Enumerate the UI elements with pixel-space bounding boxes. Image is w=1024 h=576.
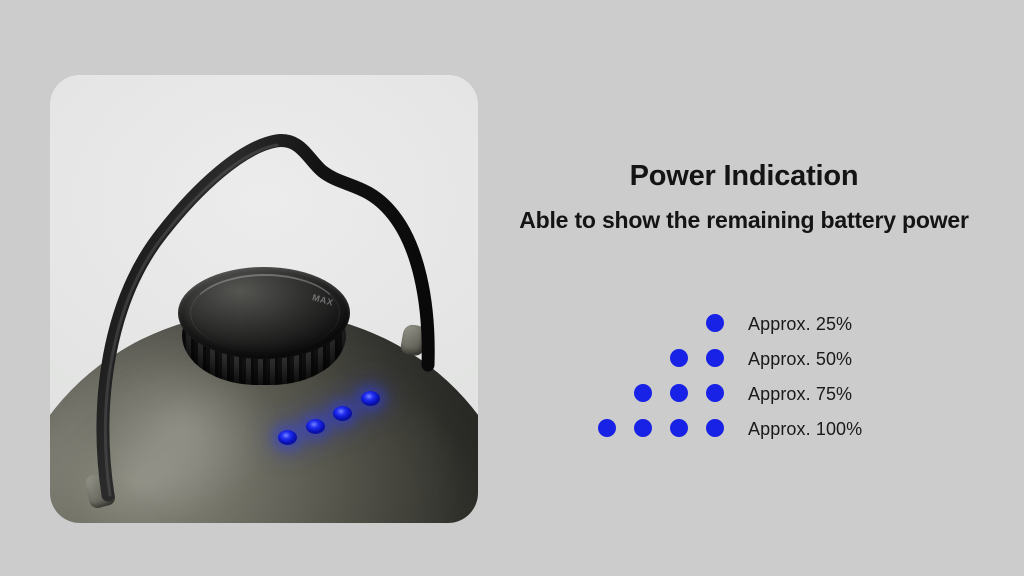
legend-row: Approx. 25% [598, 308, 918, 343]
legend-row: Approx. 100% [598, 413, 918, 448]
product-led-4 [361, 391, 380, 406]
legend-label: Approx. 25% [748, 308, 852, 343]
legend-label: Approx. 75% [748, 378, 852, 413]
legend-dot [634, 384, 652, 402]
knob-top-face: MAX [178, 267, 350, 359]
legend-dot [670, 384, 688, 402]
slide-stage: MAX Power Indication Able to show the re… [0, 0, 1024, 576]
legend-row: Approx. 75% [598, 378, 918, 413]
knob-inner-ring [190, 274, 340, 352]
legend-dot [706, 314, 724, 332]
page-subtitle: Able to show the remaining battery power [498, 207, 990, 235]
battery-level-legend: Approx. 25%Approx. 50%Approx. 75%Approx.… [598, 308, 918, 448]
product-led-3 [333, 406, 352, 421]
legend-label: Approx. 100% [748, 413, 862, 448]
product-led-1 [278, 430, 297, 445]
legend-dot-group [598, 343, 730, 378]
legend-dot [670, 349, 688, 367]
legend-dot [706, 349, 724, 367]
lantern-knob: MAX [178, 267, 350, 389]
legend-dot [706, 384, 724, 402]
legend-dot-group [598, 308, 730, 343]
page-title: Power Indication [498, 160, 990, 193]
legend-dot [670, 419, 688, 437]
legend-dot [598, 419, 616, 437]
legend-dot-group [598, 413, 730, 448]
legend-dot [706, 419, 724, 437]
product-image-card: MAX [50, 75, 478, 523]
legend-dot [634, 419, 652, 437]
legend-row: Approx. 50% [598, 343, 918, 378]
product-led-2 [306, 419, 325, 434]
legend-label: Approx. 50% [748, 343, 852, 378]
legend-dot-group [598, 378, 730, 413]
info-panel: Power Indication Able to show the remain… [498, 160, 990, 235]
